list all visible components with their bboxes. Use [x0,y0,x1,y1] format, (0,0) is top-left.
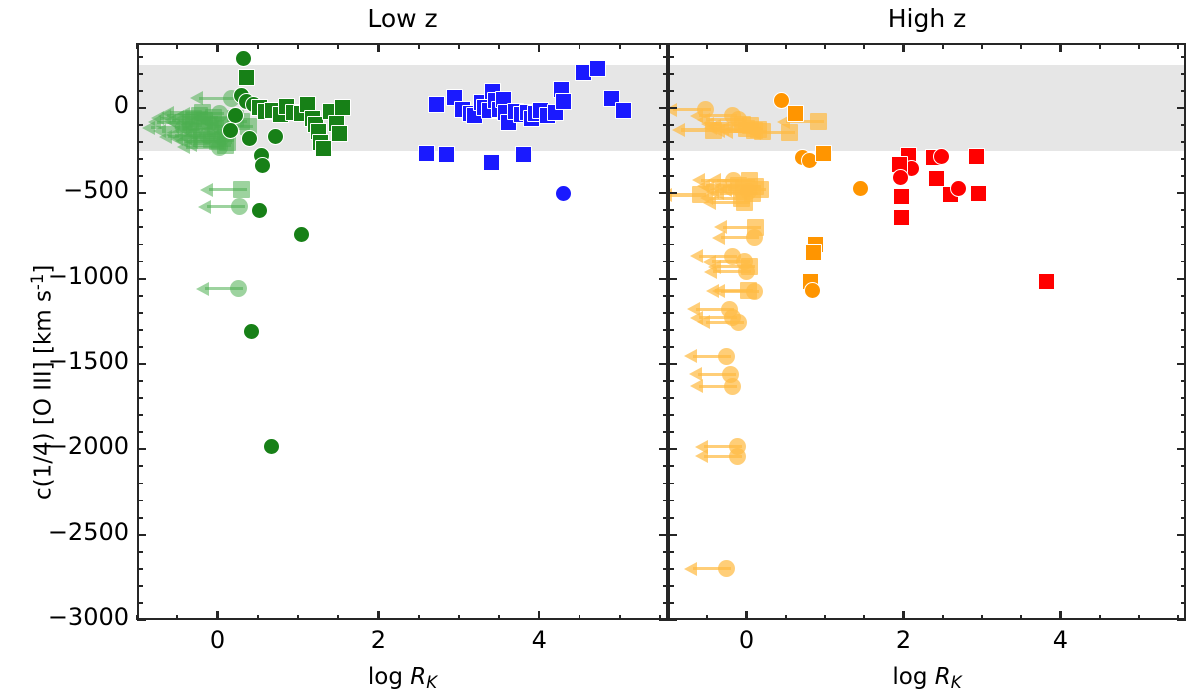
y-tick-major [659,107,668,109]
y-tick-minor [1181,380,1187,382]
y-tick-minor [1181,90,1187,92]
y-tick-label: 0 [114,91,129,119]
y-tick-minor [137,141,143,143]
y-tick-minor [1181,568,1187,570]
x-tick-minor [297,43,299,49]
panel-title-low-z: Low z [137,2,668,36]
y-tick-minor [1181,244,1187,246]
x-tick-minor [1099,43,1101,49]
y-tick-minor [1181,397,1187,399]
x-tick-minor [458,43,460,49]
y-tick-minor [668,397,674,399]
x-tick-label: 0 [706,626,786,654]
figure-root: c(1/4) [O III] [km s-1] Low z0−500−1000−… [0,0,1200,695]
x-tick-minor [297,615,299,621]
x-axis-label-variable: R [935,664,951,690]
y-tick-minor [137,483,143,485]
y-tick-minor [137,295,143,297]
y-tick-minor [137,73,143,75]
x-tick-minor [498,615,500,621]
x-tick-minor [706,615,708,621]
y-tick-minor [137,346,143,348]
x-tick-minor [176,43,178,49]
y-tick-minor [668,602,674,604]
y-tick-minor [668,380,674,382]
y-tick-minor [137,551,143,553]
y-tick-minor [137,312,143,314]
y-tick-minor [1181,465,1187,467]
x-tick-label: 2 [863,626,943,654]
x-axis-label-high-z: log RK [668,664,1186,692]
y-tick-minor [668,346,674,348]
y-tick-minor [1181,602,1187,604]
y-tick-label: −2000 [48,432,129,460]
y-tick-minor [668,158,674,160]
x-tick-major [216,43,218,52]
y-tick-major [1177,278,1186,280]
y-tick-minor [137,602,143,604]
y-tick-label: −3000 [48,603,129,631]
x-tick-minor [942,615,944,621]
y-axis-label: c(1/4) [O III] [km s-1] [28,264,56,499]
y-tick-minor [1181,175,1187,177]
y-tick-minor [668,124,674,126]
x-axis-label-subscript: K [426,673,437,692]
y-tick-minor [137,90,143,92]
x-tick-minor [824,615,826,621]
y-tick-major [668,192,677,194]
x-tick-minor [1020,615,1022,621]
y-tick-minor [668,500,674,502]
x-tick-minor [1099,615,1101,621]
x-tick-minor [863,43,865,49]
y-tick-minor [668,209,674,211]
x-axis-label-prefix: log [368,664,410,690]
y-tick-minor [1181,295,1187,297]
y-tick-major [137,448,146,450]
x-tick-minor [136,615,138,621]
x-tick-major [377,43,379,52]
y-tick-minor [668,312,674,314]
y-tick-minor [668,431,674,433]
x-axis-label-low-z: log RK [137,664,668,692]
x-axis-label-subscript: K [951,673,962,692]
y-tick-minor [137,431,143,433]
tick-layer-high-z [668,43,1186,620]
x-tick-minor [785,43,787,49]
y-tick-major [1177,448,1186,450]
x-tick-minor [981,615,983,621]
y-tick-minor [668,226,674,228]
y-tick-minor [668,90,674,92]
x-tick-minor [579,615,581,621]
x-tick-label: 4 [1020,626,1100,654]
y-tick-minor [137,226,143,228]
y-tick-minor [1181,226,1187,228]
y-tick-label: −1000 [48,262,129,290]
x-axis-label-variable: R [410,664,426,690]
y-tick-minor [1181,73,1187,75]
y-tick-minor [668,585,674,587]
x-axis-label-prefix: log [892,664,934,690]
y-tick-major [659,448,668,450]
y-tick-minor [137,414,143,416]
y-tick-minor [1181,431,1187,433]
x-tick-minor [667,43,669,49]
x-tick-minor [1177,615,1179,621]
y-tick-minor [668,465,674,467]
x-tick-minor [498,43,500,49]
x-tick-major [745,43,747,52]
y-tick-label: −500 [63,176,129,204]
y-tick-major [1177,192,1186,194]
y-tick-minor [668,295,674,297]
y-tick-label: −1500 [48,347,129,375]
x-tick-minor [257,615,259,621]
x-tick-major [745,611,747,620]
x-tick-minor [337,615,339,621]
x-tick-minor [863,615,865,621]
x-tick-label: 4 [499,626,579,654]
y-tick-minor [137,124,143,126]
y-tick-major [137,619,146,621]
x-tick-major [902,43,904,52]
y-tick-minor [137,175,143,177]
y-tick-minor [137,517,143,519]
y-tick-minor [668,56,674,58]
x-tick-minor [619,615,621,621]
y-tick-minor [1181,124,1187,126]
x-tick-major [902,611,904,620]
y-tick-minor [137,380,143,382]
y-tick-major [659,534,668,536]
y-tick-major [659,278,668,280]
x-tick-minor [659,43,661,49]
y-tick-minor [137,261,143,263]
y-tick-minor [1181,414,1187,416]
y-tick-major [1177,534,1186,536]
y-tick-minor [137,585,143,587]
y-tick-minor [1181,312,1187,314]
x-tick-minor [176,615,178,621]
y-tick-major [137,363,146,365]
y-tick-major [668,534,677,536]
y-tick-major [668,363,677,365]
y-tick-minor [137,500,143,502]
x-tick-minor [785,615,787,621]
y-tick-minor [1181,261,1187,263]
x-tick-major [538,43,540,52]
y-tick-minor [1181,500,1187,502]
x-tick-minor [824,43,826,49]
y-tick-minor [668,568,674,570]
y-tick-minor [668,244,674,246]
y-tick-minor [668,329,674,331]
y-tick-minor [1181,483,1187,485]
y-tick-minor [668,73,674,75]
y-tick-major [137,192,146,194]
x-tick-major [1059,611,1061,620]
y-tick-minor [1181,551,1187,553]
y-tick-minor [137,209,143,211]
x-tick-major [377,611,379,620]
y-tick-minor [668,483,674,485]
x-tick-minor [667,615,669,621]
x-tick-minor [418,43,420,49]
y-tick-minor [668,551,674,553]
y-tick-major [659,363,668,365]
panel-title-high-z: High z [668,2,1186,36]
y-tick-minor [668,261,674,263]
x-tick-minor [1020,43,1022,49]
y-tick-minor [1181,346,1187,348]
x-tick-label: 2 [338,626,418,654]
x-tick-label: 0 [177,626,257,654]
y-tick-major [668,619,677,621]
x-tick-major [216,611,218,620]
x-tick-major [1059,43,1061,52]
y-tick-major [668,107,677,109]
x-tick-minor [418,615,420,621]
y-tick-major [137,534,146,536]
y-tick-major [659,192,668,194]
x-tick-minor [981,43,983,49]
y-tick-minor [1181,585,1187,587]
x-tick-minor [458,615,460,621]
x-tick-minor [337,43,339,49]
x-tick-minor [136,43,138,49]
x-tick-minor [1138,43,1140,49]
y-tick-major [668,278,677,280]
x-tick-minor [619,43,621,49]
tick-layer-low-z [137,43,668,620]
y-tick-minor [1181,158,1187,160]
x-tick-minor [1138,615,1140,621]
y-tick-minor [668,517,674,519]
y-tick-minor [137,158,143,160]
y-tick-label: −2500 [48,518,129,546]
x-tick-major [538,611,540,620]
y-tick-major [137,107,146,109]
y-tick-minor [137,568,143,570]
y-tick-minor [668,175,674,177]
y-axis-label-exponent: -1 [28,273,47,290]
y-tick-minor [1181,209,1187,211]
y-tick-minor [137,397,143,399]
y-tick-minor [668,414,674,416]
x-tick-minor [659,615,661,621]
y-tick-minor [137,329,143,331]
x-tick-minor [942,43,944,49]
x-tick-minor [1177,43,1179,49]
y-tick-minor [137,244,143,246]
y-axis-label-text: c(1/4) [O III] [km s [30,290,56,500]
y-tick-minor [668,141,674,143]
y-tick-minor [1181,141,1187,143]
x-tick-minor [579,43,581,49]
x-tick-minor [257,43,259,49]
y-tick-major [1177,107,1186,109]
x-tick-minor [706,43,708,49]
y-tick-minor [137,465,143,467]
y-tick-minor [1181,329,1187,331]
y-tick-major [137,278,146,280]
y-tick-minor [137,56,143,58]
y-tick-major [668,448,677,450]
y-tick-minor [1181,517,1187,519]
y-tick-minor [1181,56,1187,58]
y-tick-major [1177,363,1186,365]
